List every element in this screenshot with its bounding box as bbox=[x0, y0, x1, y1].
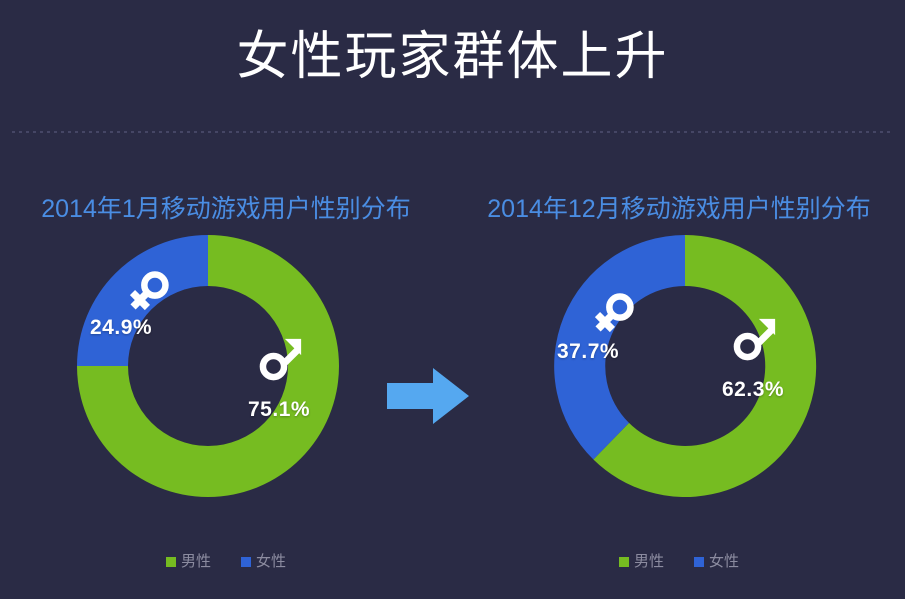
legend-item-female[interactable]: 女性 bbox=[694, 554, 739, 570]
chart-subtitle-december: 2014年12月移动游戏用户性别分布 bbox=[453, 193, 905, 225]
male-gender-icon bbox=[254, 334, 306, 386]
female-color-swatch bbox=[694, 557, 704, 567]
male-color-swatch bbox=[619, 557, 629, 567]
female-gender-icon bbox=[122, 266, 174, 318]
chart-subtitle-january: 2014年1月移动游戏用户性别分布 bbox=[0, 193, 452, 225]
donut-chart-december: 37.7% 62.3% bbox=[549, 230, 821, 502]
male-percent-december: 62.3% bbox=[722, 378, 784, 402]
female-percent-january: 24.9% bbox=[90, 316, 152, 340]
female-gender-icon bbox=[587, 288, 639, 340]
legend-label-female: 女性 bbox=[709, 554, 739, 570]
female-percent-december: 37.7% bbox=[557, 340, 619, 364]
male-color-swatch bbox=[166, 557, 176, 567]
legend-label-male: 男性 bbox=[634, 554, 664, 570]
female-color-swatch bbox=[241, 557, 251, 567]
male-percent-january: 75.1% bbox=[248, 398, 310, 422]
legend-item-male[interactable]: 男性 bbox=[166, 554, 211, 570]
legend-label-female: 女性 bbox=[256, 554, 286, 570]
male-gender-icon bbox=[728, 314, 780, 366]
legend-item-female[interactable]: 女性 bbox=[241, 554, 286, 570]
legend-label-male: 男性 bbox=[181, 554, 211, 570]
chart-panel-january: 2014年1月移动游戏用户性别分布 24.9% 75.1% bbox=[0, 180, 452, 590]
legend-december: 男性 女性 bbox=[453, 554, 905, 570]
donut-svg-december bbox=[549, 230, 821, 502]
page-title: 女性玩家群体上升 bbox=[0, 26, 905, 88]
chart-panel-december: 2014年12月移动游戏用户性别分布 37.7% 62.3% bbox=[453, 180, 905, 590]
header-divider bbox=[12, 131, 893, 133]
donut-chart-january: 24.9% 75.1% bbox=[72, 230, 344, 502]
legend-january: 男性 女性 bbox=[0, 554, 488, 570]
legend-item-male[interactable]: 男性 bbox=[619, 554, 664, 570]
